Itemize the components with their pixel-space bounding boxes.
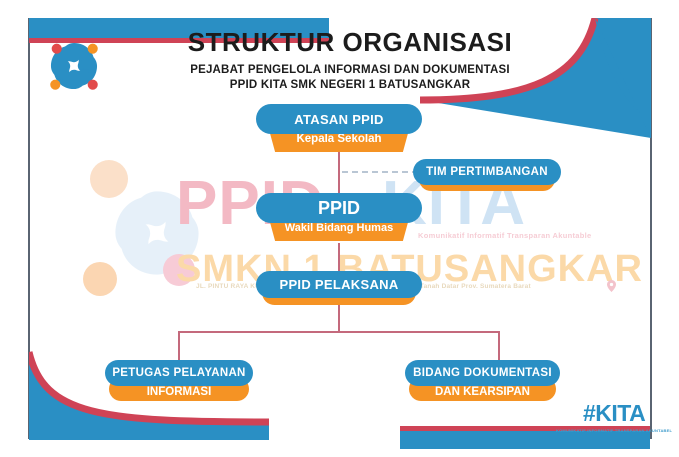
- kita-brand-tagline: KOMUNIKATIF INFORMATIF TRANSPARAN AKUNTA…: [556, 428, 672, 433]
- node-tim-pertimbangan[interactable]: TIM PERTIMBANGAN: [413, 159, 561, 185]
- watermark-dot-orange-top: [90, 160, 128, 198]
- node-ppid-pelaksana[interactable]: PPID PELAKSANA: [256, 271, 422, 298]
- watermark-swirl-logo: [92, 168, 222, 298]
- connector-horizontal-branch: [178, 331, 500, 333]
- connector-ppid-to-pelaksana: [338, 243, 340, 273]
- page-subtitle-line-2: PPID KITA SMK NEGERI 1 BATUSANGKAR: [140, 79, 560, 91]
- kita-brand-mark: #KITA KOMUNIKATIF INFORMATIF TRANSPARAN …: [556, 400, 672, 433]
- frame-right-edge: [650, 18, 652, 439]
- kita-brand-text: #KITA: [556, 400, 672, 427]
- location-pin-icon: [607, 279, 616, 291]
- node-ppid[interactable]: Wakil Bidang Humas PPID: [256, 193, 422, 223]
- organization-chart-poster: STRUKTUR ORGANISASI PEJABAT PENGELOLA IN…: [0, 0, 679, 457]
- node-ppid-title: PPID: [256, 193, 422, 223]
- node-petugas-pelayanan-informasi[interactable]: INFORMASI PETUGAS PELAYANAN: [105, 360, 253, 386]
- frame-left-edge: [28, 18, 30, 439]
- bottom-right-blue-bar: [400, 431, 650, 449]
- node-bidang-dokumentasi-title: BIDANG DOKUMENTASI: [405, 360, 560, 386]
- connector-atasan-to-ppid: [338, 152, 340, 193]
- node-atasan-ppid-title: ATASAN PPID: [256, 104, 422, 134]
- page-subtitle-line-1: PEJABAT PENGELOLA INFORMASI DAN DOKUMENT…: [140, 64, 560, 76]
- watermark-dot-pink: [163, 254, 195, 286]
- node-petugas-pelayanan-informasi-title: PETUGAS PELAYANAN: [105, 360, 253, 386]
- node-tim-pertimbangan-title: TIM PERTIMBANGAN: [413, 159, 561, 185]
- node-ppid-pelaksana-title: PPID PELAKSANA: [256, 271, 422, 298]
- ppid-kita-swirl-logo: [38, 30, 110, 102]
- node-atasan-ppid[interactable]: Kepala Sekolah ATASAN PPID: [256, 104, 422, 134]
- watermark-tagline: Komunikatif Informatif Transparan Akunta…: [418, 231, 591, 240]
- poster-title-block: STRUKTUR ORGANISASI PEJABAT PENGELOLA IN…: [140, 28, 560, 91]
- page-title: STRUKTUR ORGANISASI: [140, 28, 560, 57]
- node-bidang-dokumentasi[interactable]: DAN KEARSIPAN BIDANG DOKUMENTASI: [405, 360, 560, 386]
- watermark-dot-orange-bottom: [83, 262, 117, 296]
